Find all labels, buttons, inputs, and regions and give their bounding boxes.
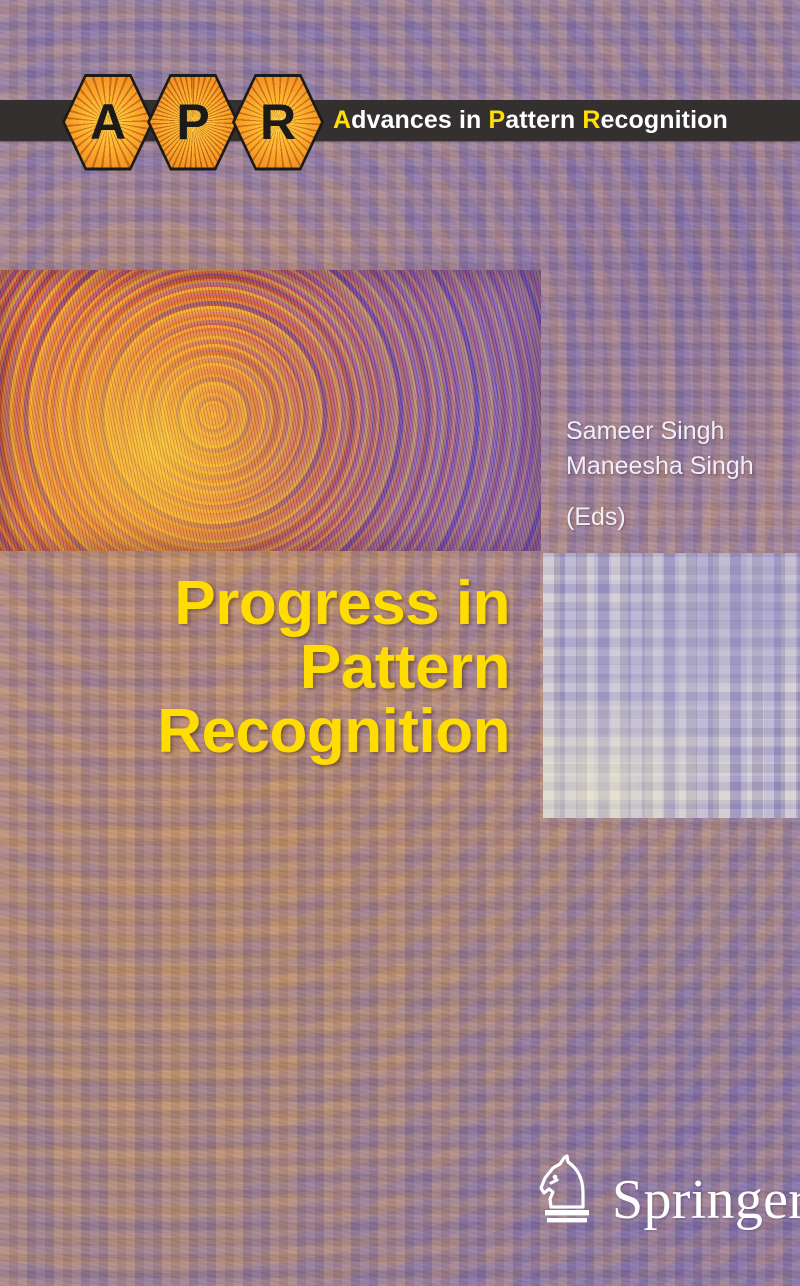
book-title-line-2: Pattern: [0, 636, 510, 700]
series-title-part: A: [333, 106, 351, 134]
series-title-part: P: [488, 106, 505, 134]
grey-pixel-texture-patch: [543, 553, 800, 818]
book-cover: Advances in Pattern Recognition A P R Sa…: [0, 0, 800, 1286]
hexagon-r-letter: R: [260, 97, 296, 147]
hexagon-a-letter: A: [90, 97, 126, 147]
editor-name-2: Maneesha Singh: [566, 449, 800, 484]
concentric-ripple-artwork: [0, 270, 541, 551]
series-title-part: ecognition: [600, 106, 727, 134]
series-title-part: R: [582, 106, 600, 134]
texture-soft-blotches: [543, 553, 800, 818]
editor-name-1: Sameer Singh: [566, 414, 800, 449]
series-title-part: dvances in: [351, 106, 488, 134]
book-title: Progress in Pattern Recognition: [0, 572, 510, 764]
hexagon-letter-a-icon: A: [62, 74, 154, 171]
hexagon-letter-r-icon: R: [232, 74, 324, 171]
book-title-line-3: Recognition: [0, 700, 510, 764]
series-title: Advances in Pattern Recognition: [333, 108, 728, 133]
hexagon-p-letter: P: [176, 97, 209, 147]
springer-knight-icon: [534, 1152, 600, 1228]
book-title-line-1: Progress in: [0, 572, 510, 636]
artwork-vignette: [0, 270, 541, 551]
editors-block: Sameer Singh Maneesha Singh (Eds): [566, 414, 800, 535]
series-title-part: attern: [505, 106, 582, 134]
publisher-name: Springer: [612, 1174, 800, 1228]
editor-role: (Eds): [566, 500, 800, 535]
apr-series-logo: A P R: [62, 72, 330, 172]
publisher-logo: Springer: [534, 1152, 800, 1228]
hexagon-letter-p-icon: P: [147, 74, 239, 171]
